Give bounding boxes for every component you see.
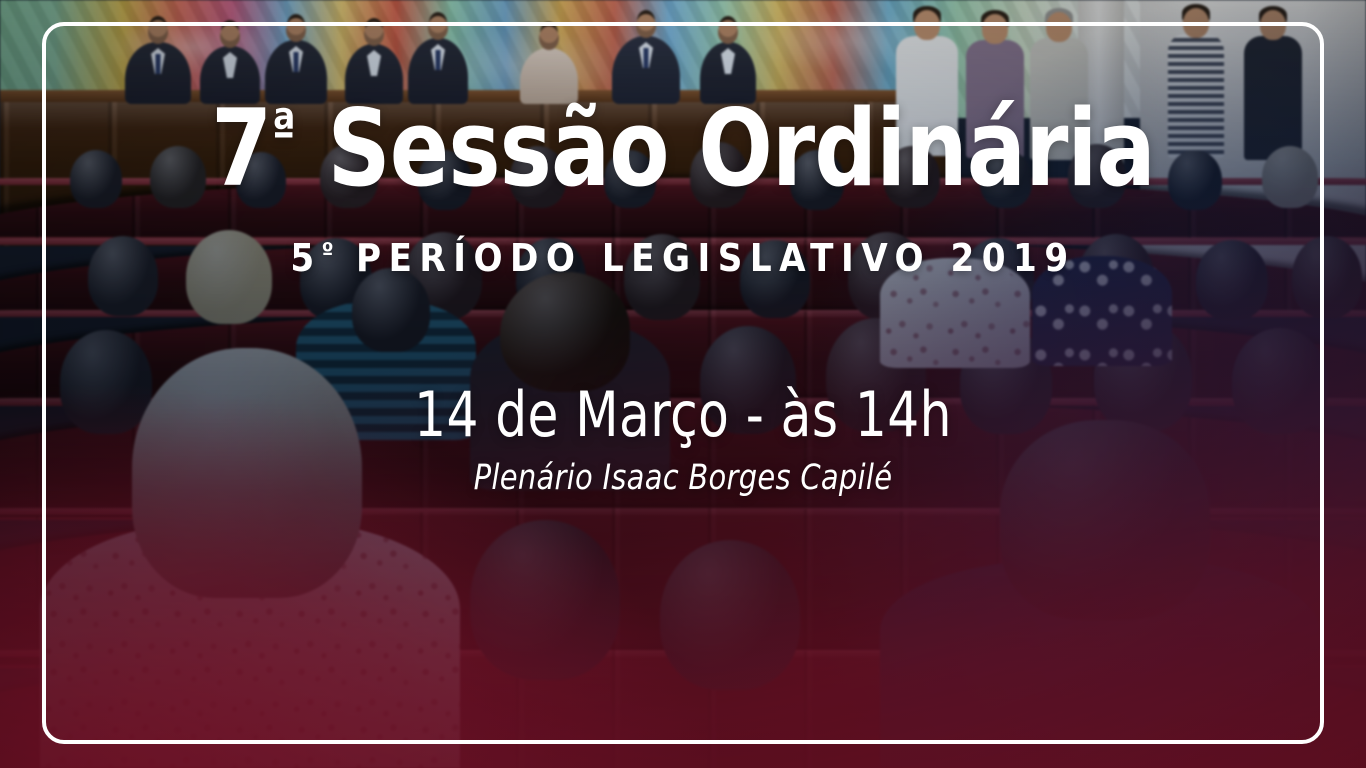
event-announcement-banner: 7ª Sessão Ordinária 5º PERÍODO LEGISLATI… bbox=[0, 0, 1366, 768]
period-subtitle-text: PERÍODO LEGISLATIVO 2019 bbox=[337, 236, 1076, 280]
session-title: 7ª Sessão Ordinária bbox=[55, 96, 1312, 202]
session-title-text: Sessão Ordinária bbox=[298, 87, 1155, 210]
legislative-period-subtitle: 5º PERÍODO LEGISLATIVO 2019 bbox=[0, 236, 1366, 280]
session-venue: Plenário Isaac Borges Capilé bbox=[55, 458, 1312, 498]
session-ordinal-suffix: ª bbox=[271, 99, 296, 160]
session-date-time: 14 de Março - às 14h bbox=[68, 378, 1297, 451]
session-number: 7 bbox=[211, 87, 271, 210]
period-number: 5 bbox=[290, 236, 321, 280]
period-ordinal-suffix: º bbox=[322, 237, 337, 265]
text-content-layer: 7ª Sessão Ordinária 5º PERÍODO LEGISLATI… bbox=[0, 0, 1366, 768]
